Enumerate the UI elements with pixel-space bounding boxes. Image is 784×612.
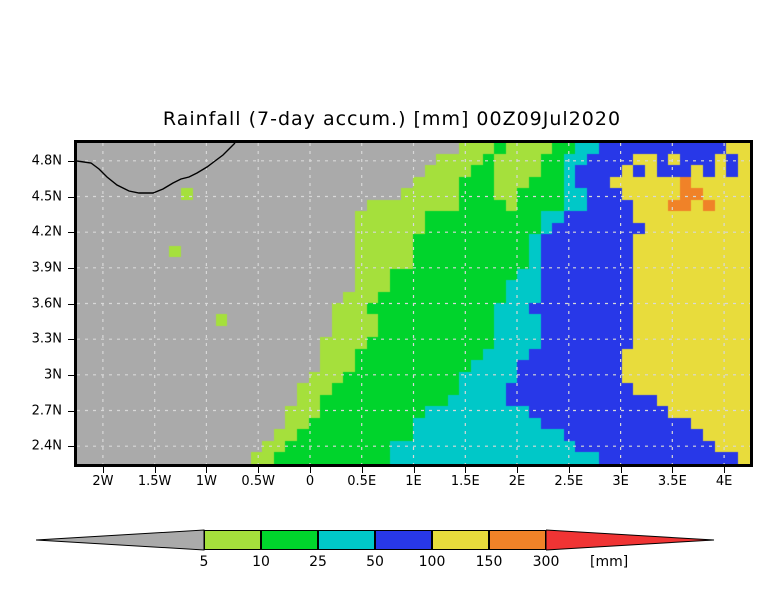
colorbar-band[interactable] (261, 530, 318, 550)
x-axis-tick-mark (258, 467, 259, 473)
x-axis-tick-label: 1E (405, 474, 422, 489)
x-axis-tick-label: 2.5E (554, 474, 583, 489)
x-axis-tick-mark (206, 467, 207, 473)
x-axis-tick-label: 0.5W (241, 474, 275, 489)
colorbar-band[interactable] (204, 530, 261, 550)
rainfall-map[interactable] (74, 140, 753, 467)
x-axis-tick-label: 4E (716, 474, 733, 489)
colorbar[interactable]: [mm] 5102550100150300 (0, 530, 784, 590)
page-title: Rainfall (7-day accum.) [mm] 00Z09Jul202… (0, 108, 784, 130)
colorbar-tick-label: 100 (419, 554, 446, 570)
x-axis-tick-mark (724, 467, 725, 473)
rainfall-grid (77, 143, 750, 464)
y-axis-tick-label: 4.5N (32, 189, 62, 204)
y-axis-tick-label: 4.8N (32, 153, 62, 168)
colorbar-band[interactable] (432, 530, 489, 550)
x-axis-tick-label: 1.5E (451, 474, 480, 489)
x-axis-tick-label: 3E (612, 474, 629, 489)
colorbar-tick-label: 5 (200, 554, 209, 570)
y-axis-tick-label: 3N (44, 367, 62, 382)
y-axis-tick-mark (68, 161, 74, 162)
y-axis-tick-label: 3.9N (32, 260, 62, 275)
colorbar-tick-label: 25 (309, 554, 327, 570)
x-axis-tick-mark (310, 467, 311, 473)
x-axis-tick-mark (155, 467, 156, 473)
x-axis-tick-label: 0 (306, 474, 314, 489)
colorbar-band[interactable] (489, 530, 546, 550)
x-axis-tick-label: 2W (92, 474, 113, 489)
y-axis-tick-label: 3.6N (32, 296, 62, 311)
x-axis-tick-label: 1.5W (138, 474, 172, 489)
x-axis-tick-mark (414, 467, 415, 473)
y-axis-labels: 4.8N4.5N4.2N3.9N3.6N3.3N3N2.7N2.4N (0, 140, 62, 467)
y-axis-tick-mark (68, 339, 74, 340)
y-axis-tick-mark (68, 268, 74, 269)
x-axis-tick-mark (465, 467, 466, 473)
colorbar-tick-label: 150 (476, 554, 503, 570)
y-axis-tick-label: 2.7N (32, 403, 62, 418)
colorbar-units-label: [mm] (590, 554, 628, 570)
colorbar-tick-label: 50 (366, 554, 384, 570)
x-axis-tick-mark (362, 467, 363, 473)
x-axis-tick-label: 3.5E (658, 474, 687, 489)
y-axis-tick-mark (68, 304, 74, 305)
y-axis-tick-label: 4.2N (32, 225, 62, 240)
colorbar-low-arrow (36, 529, 206, 551)
x-axis-tick-label: 1W (196, 474, 217, 489)
y-axis-tick-mark (68, 375, 74, 376)
x-axis-tick-label: 0.5E (347, 474, 376, 489)
x-axis-tick-label: 2E (509, 474, 526, 489)
x-axis-tick-mark (621, 467, 622, 473)
colorbar-band[interactable] (318, 530, 375, 550)
y-axis-tick-label: 2.4N (32, 439, 62, 454)
colorbar-tick-label: 10 (252, 554, 270, 570)
x-axis-tick-mark (517, 467, 518, 473)
y-axis-tick-mark (68, 197, 74, 198)
x-axis-tick-mark (569, 467, 570, 473)
x-axis-tick-mark (672, 467, 673, 473)
y-axis-tick-mark (68, 232, 74, 233)
colorbar-tick-label: 300 (533, 554, 560, 570)
x-axis-tick-mark (103, 467, 104, 473)
y-axis-tick-mark (68, 446, 74, 447)
colorbar-band[interactable] (375, 530, 432, 550)
colorbar-high-arrow (546, 529, 716, 551)
x-axis-labels: 2W1.5W1W0.5W00.5E1E1.5E2E2.5E3E3.5E4E (0, 474, 784, 494)
y-axis-tick-label: 3.3N (32, 332, 62, 347)
y-axis-tick-mark (68, 411, 74, 412)
